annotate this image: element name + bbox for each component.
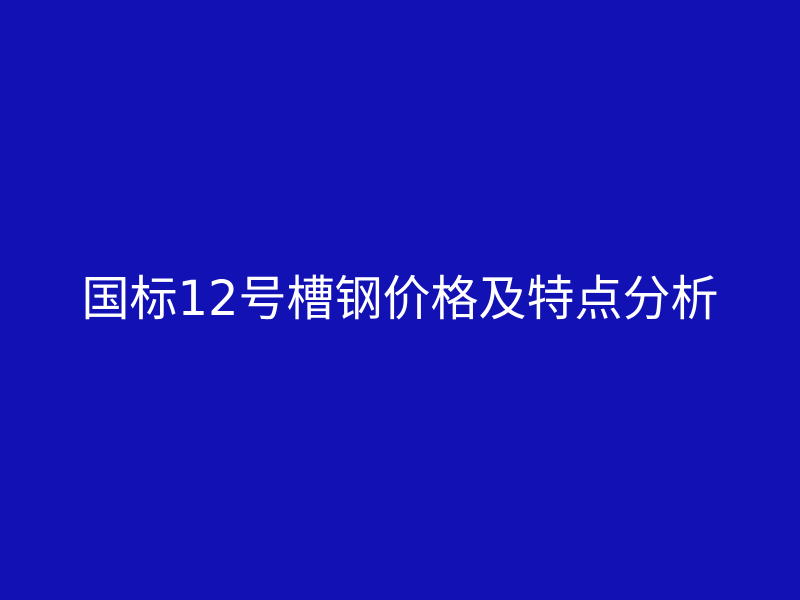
- slide-canvas: 国标12号槽钢价格及特点分析: [0, 0, 800, 600]
- title-block: 国标12号槽钢价格及特点分析: [0, 0, 800, 600]
- slide-title: 国标12号槽钢价格及特点分析: [0, 271, 800, 329]
